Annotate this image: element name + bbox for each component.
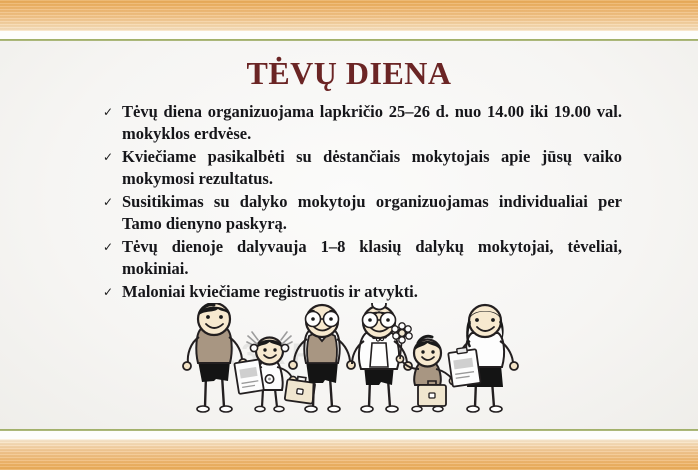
checkmark-icon: ✓ [100, 281, 122, 303]
list-item-text: Tėvų diena organizuojama lapkričio 25–26… [122, 101, 622, 145]
page-title: TĖVŲ DIENA [0, 57, 698, 89]
list-item-text: Tėvų dienoje dalyvauja 1–8 klasių dalykų… [122, 236, 622, 280]
list-item-text: Kviečiame pasikalbėti su dėstančiais mok… [122, 146, 622, 190]
slide-canvas: TĖVŲ DIENA ✓ Tėvų diena organizuojama la… [0, 0, 698, 470]
decorative-band-bottom [0, 439, 698, 470]
list-item: ✓ Kviečiame pasikalbėti su dėstančiais m… [100, 146, 622, 190]
list-item-text: Maloniai kviečiame registruotis ir atvyk… [122, 281, 622, 303]
list-item: ✓ Tėvų diena organizuojama lapkričio 25–… [100, 101, 622, 145]
band-gap-bottom [0, 430, 698, 439]
divider-rule-bottom [0, 429, 698, 431]
list-item: ✓ Susitikimas su dalyko mokytoju organiz… [100, 191, 622, 235]
list-item-text: Susitikimas su dalyko mokytoju organizuo… [122, 191, 622, 235]
checkmark-icon: ✓ [100, 191, 122, 213]
cartoon-family-illustration [178, 303, 520, 425]
decorative-band-top [0, 0, 698, 31]
checkmark-icon: ✓ [100, 236, 122, 258]
checkmark-icon: ✓ [100, 146, 122, 168]
bullet-list: ✓ Tėvų diena organizuojama lapkričio 25–… [100, 101, 622, 304]
checkmark-icon: ✓ [100, 101, 122, 123]
list-item: ✓ Maloniai kviečiame registruotis ir atv… [100, 281, 622, 303]
list-item: ✓ Tėvų dienoje dalyvauja 1–8 klasių daly… [100, 236, 622, 280]
